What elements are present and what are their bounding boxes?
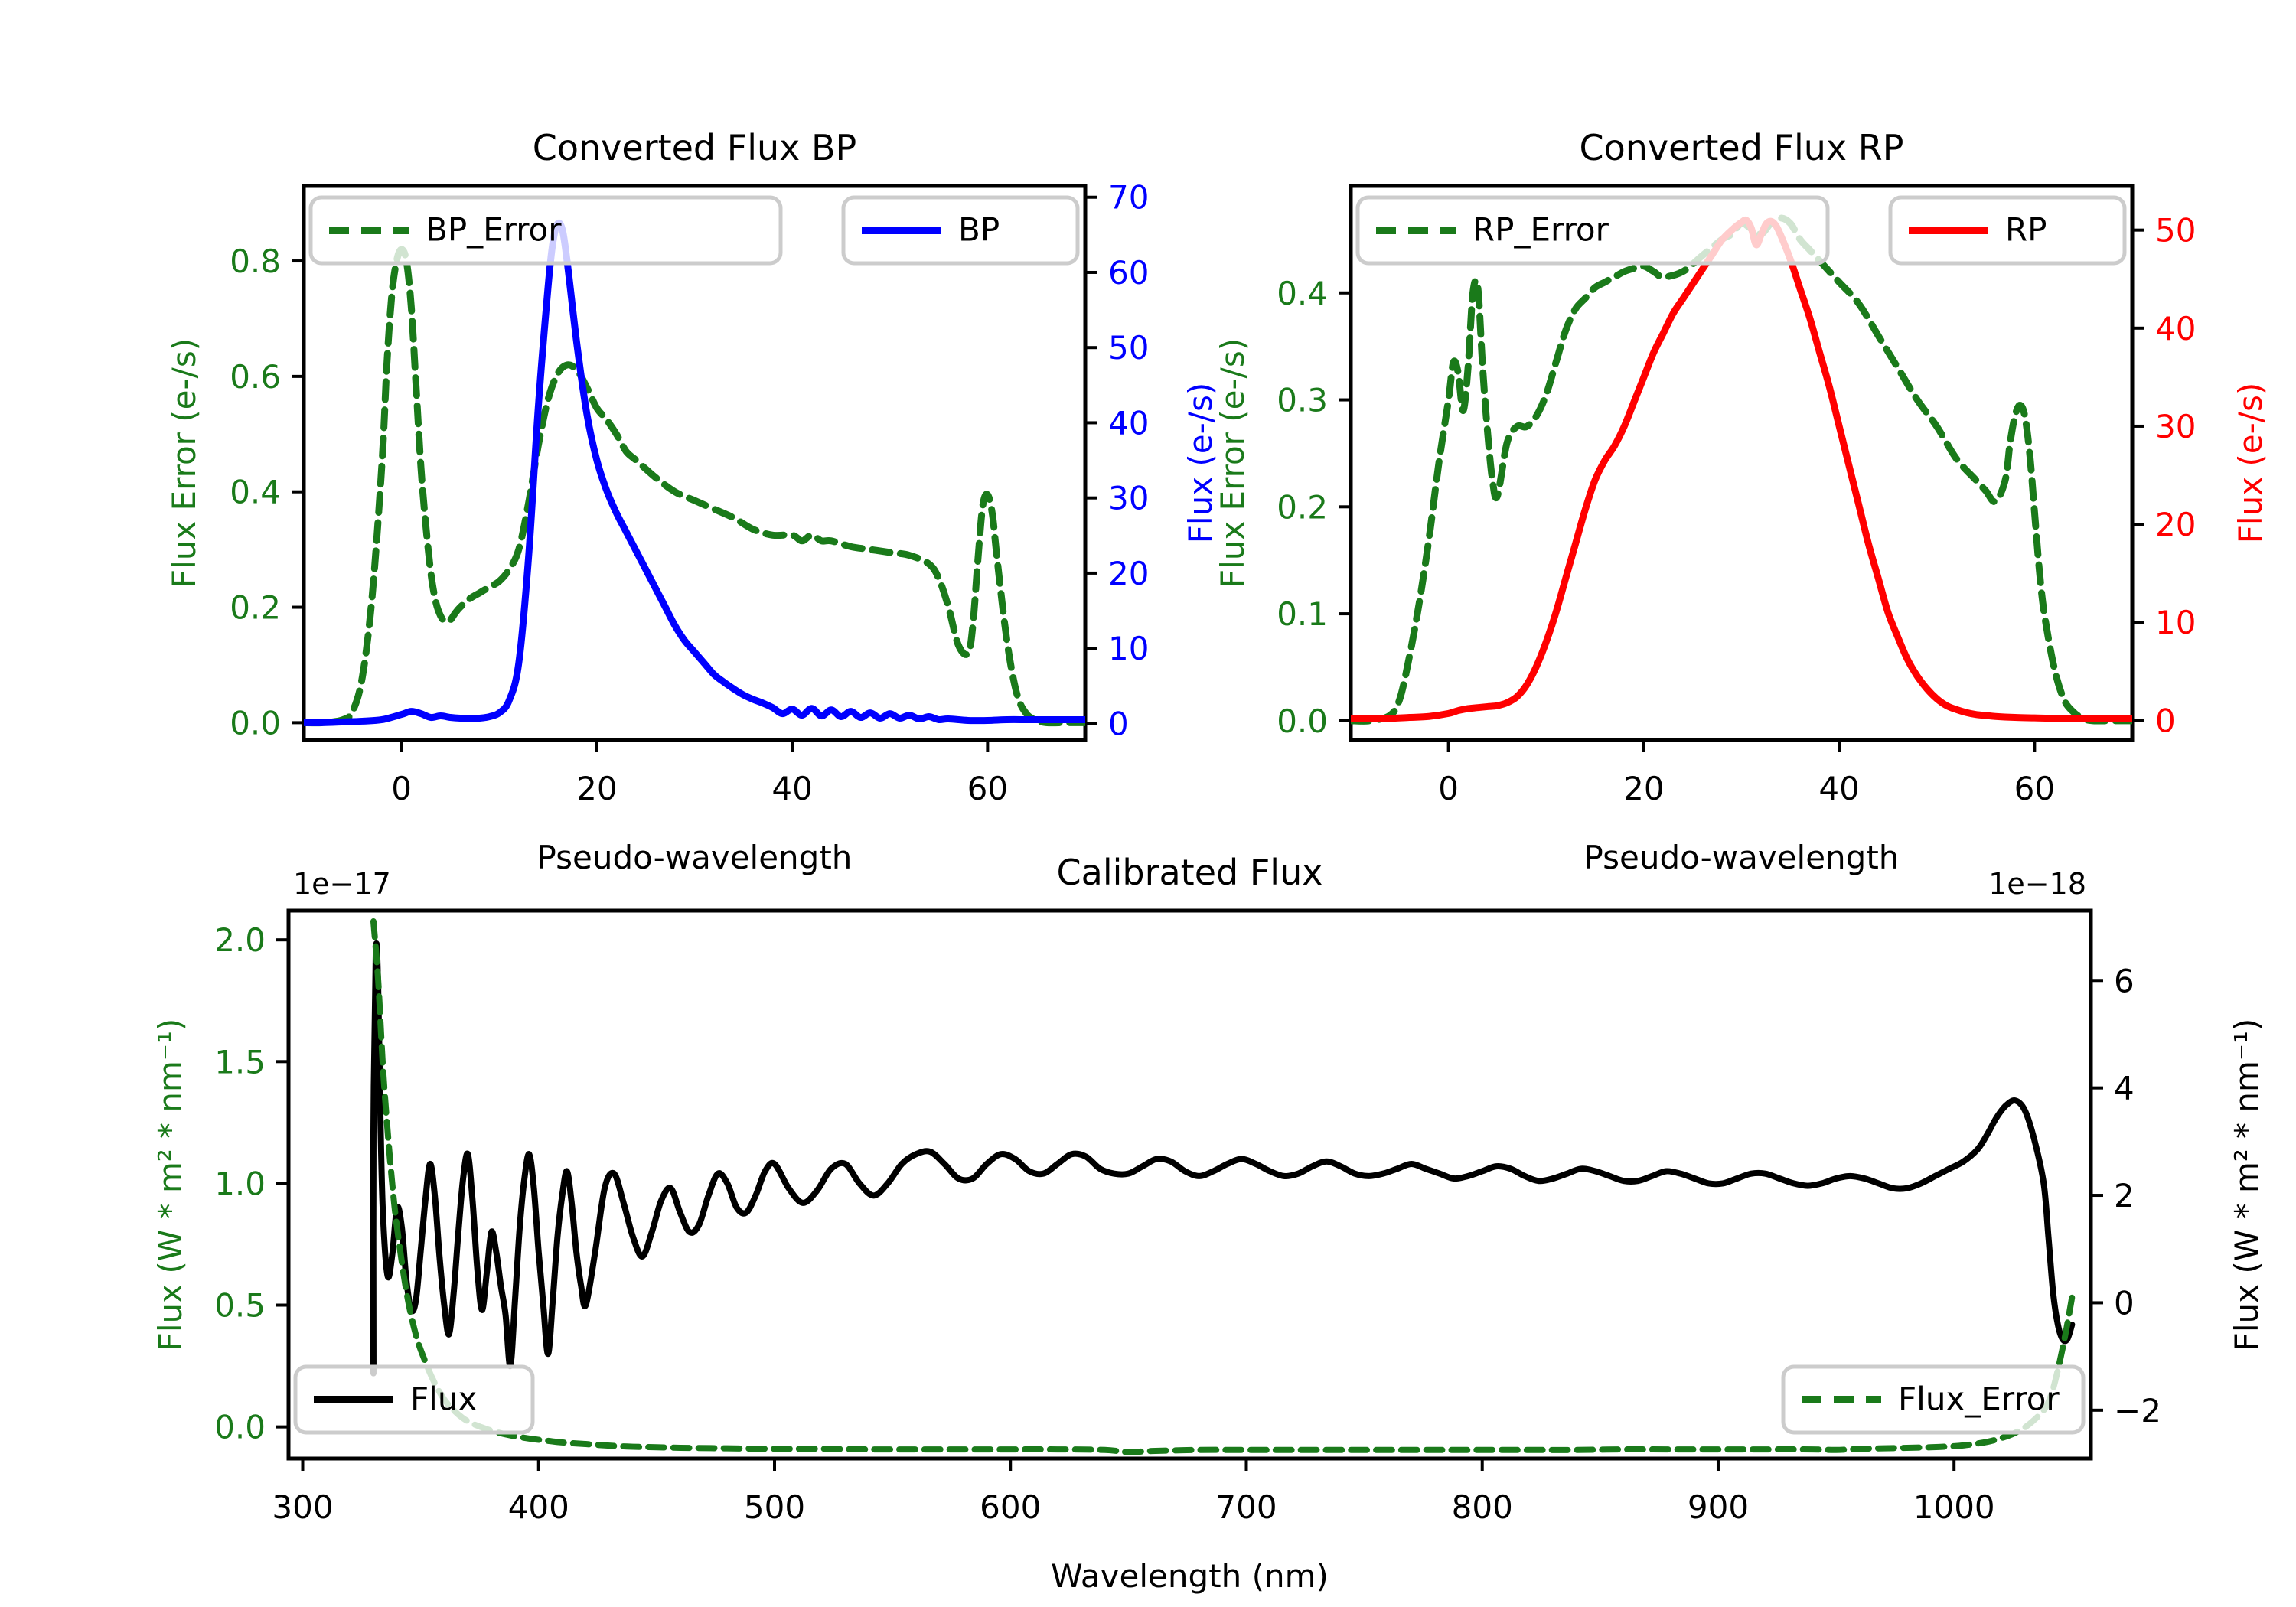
y-left-offset-label: 1e−17 — [293, 867, 391, 901]
y-left-tick-label: 0.4 — [230, 474, 281, 511]
y-right-tick-label: 0 — [2114, 1284, 2135, 1322]
x-tick-label: 60 — [967, 770, 1008, 807]
series-rp — [1351, 220, 2132, 718]
y-left-tick-label: 0.2 — [1277, 488, 1328, 526]
y-right-tick-label: 10 — [2155, 604, 2196, 641]
y-left-tick-label: 0.1 — [1277, 595, 1328, 633]
panel-cal: 3004005006007008009001000Wavelength (nm)… — [152, 852, 2265, 1595]
y-left-tick-label: 0.2 — [230, 589, 281, 627]
y-left-tick-label: 0.3 — [1277, 382, 1328, 419]
legend-flux-label: Flux — [410, 1380, 477, 1418]
y-right-tick-label: 30 — [1108, 480, 1149, 517]
y-axis-right-label: Flux (W * m² * nm⁻¹) — [2228, 1019, 2265, 1351]
y-right-tick-label: 10 — [1108, 630, 1149, 667]
series-flux — [373, 944, 2073, 1374]
legend-bp-label: BP — [958, 211, 1000, 249]
y-left-tick-label: 0.0 — [230, 704, 281, 742]
x-tick-label: 700 — [1215, 1488, 1277, 1526]
y-left-tick-label: 0.6 — [230, 358, 281, 396]
legend-flux[interactable]: Flux — [295, 1367, 533, 1433]
y-right-tick-label: 50 — [1108, 329, 1149, 367]
panel-title: Converted Flux RP — [1580, 127, 1904, 168]
legend-bp[interactable]: BP — [843, 197, 1078, 263]
y-left-tick-label: 1.0 — [214, 1165, 266, 1202]
panel-bp: 0204060Pseudo-wavelength0.00.20.40.60.8F… — [165, 127, 1219, 876]
legend-flux-error[interactable]: Flux_Error — [1783, 1367, 2083, 1433]
legend-rp-error[interactable]: RP_Error — [1358, 197, 1828, 263]
y-right-offset-label: 1e−18 — [1988, 867, 2086, 901]
series-rp_error — [1351, 218, 2132, 721]
x-tick-label: 0 — [391, 770, 412, 807]
y-right-tick-label: 2 — [2114, 1177, 2135, 1214]
y-left-tick-label: 0.0 — [214, 1409, 266, 1446]
legend-bp-error[interactable]: BP_Error — [311, 197, 781, 263]
y-right-tick-label: 0 — [2155, 702, 2176, 739]
x-axis-label: Pseudo-wavelength — [1584, 839, 1900, 876]
legend-bp-error-label: BP_Error — [426, 211, 562, 249]
panel-bp-plot-area — [304, 223, 1085, 722]
x-tick-label: 60 — [2014, 770, 2055, 807]
y-right-tick-label: 30 — [2155, 408, 2196, 445]
x-tick-label: 600 — [980, 1488, 1041, 1526]
matplotlib-figure: 0204060Pseudo-wavelength0.00.20.40.60.8F… — [0, 0, 2296, 1607]
y-left-tick-label: 0.8 — [230, 243, 281, 280]
x-tick-label: 40 — [771, 770, 812, 807]
y-left-tick-label: 1.5 — [214, 1043, 266, 1081]
x-tick-label: 500 — [744, 1488, 805, 1526]
panel-title: Calibrated Flux — [1057, 852, 1323, 893]
legend-flux-error-label: Flux_Error — [1898, 1380, 2060, 1418]
legend-rp[interactable]: RP — [1890, 197, 2125, 263]
x-tick-label: 400 — [508, 1488, 569, 1526]
legend-rp-error-label: RP_Error — [1473, 211, 1609, 249]
x-tick-label: 0 — [1438, 770, 1459, 807]
x-tick-label: 800 — [1452, 1488, 1513, 1526]
y-right-tick-label: 20 — [2155, 506, 2196, 543]
panel-rp-axes-frame — [1351, 186, 2132, 740]
y-left-tick-label: 0.4 — [1277, 275, 1328, 312]
y-right-tick-label: 20 — [1108, 555, 1149, 592]
figure-root: 0204060Pseudo-wavelength0.00.20.40.60.8F… — [0, 0, 2296, 1607]
y-axis-left-label: Flux Error (e-/s) — [1214, 338, 1251, 588]
y-right-tick-label: 6 — [2114, 962, 2135, 999]
y-right-tick-label: 0 — [1108, 705, 1129, 742]
y-left-tick-label: 0.5 — [214, 1287, 266, 1325]
panel-title: Converted Flux BP — [533, 127, 857, 168]
y-right-tick-label: 70 — [1108, 179, 1149, 217]
y-axis-right-label: Flux (e-/s) — [2232, 383, 2269, 543]
y-axis-left-label: Flux (W * m² * nm⁻¹) — [152, 1019, 189, 1351]
y-right-tick-label: 50 — [2155, 212, 2196, 249]
x-axis-label: Pseudo-wavelength — [537, 839, 853, 876]
x-tick-label: 20 — [576, 770, 617, 807]
x-tick-label: 1000 — [1913, 1488, 1995, 1526]
legend-rp-label: RP — [2005, 211, 2047, 249]
x-tick-label: 900 — [1688, 1488, 1749, 1526]
y-left-tick-label: 2.0 — [214, 921, 266, 959]
x-tick-label: 40 — [1818, 770, 1859, 807]
x-axis-label: Wavelength (nm) — [1051, 1557, 1329, 1595]
x-tick-label: 20 — [1623, 770, 1664, 807]
y-left-tick-label: 0.0 — [1277, 702, 1328, 740]
y-axis-left-label: Flux Error (e-/s) — [165, 338, 203, 588]
panel-rp: 0204060Pseudo-wavelength0.00.10.20.30.4F… — [1214, 127, 2269, 876]
y-right-tick-label: 60 — [1108, 254, 1149, 292]
y-right-tick-label: 4 — [2114, 1070, 2135, 1107]
y-right-tick-label: 40 — [1108, 404, 1149, 442]
y-right-tick-label: −2 — [2114, 1392, 2161, 1429]
panel-rp-plot-area — [1351, 218, 2132, 721]
y-right-tick-label: 40 — [2155, 310, 2196, 347]
x-tick-label: 300 — [272, 1488, 333, 1526]
